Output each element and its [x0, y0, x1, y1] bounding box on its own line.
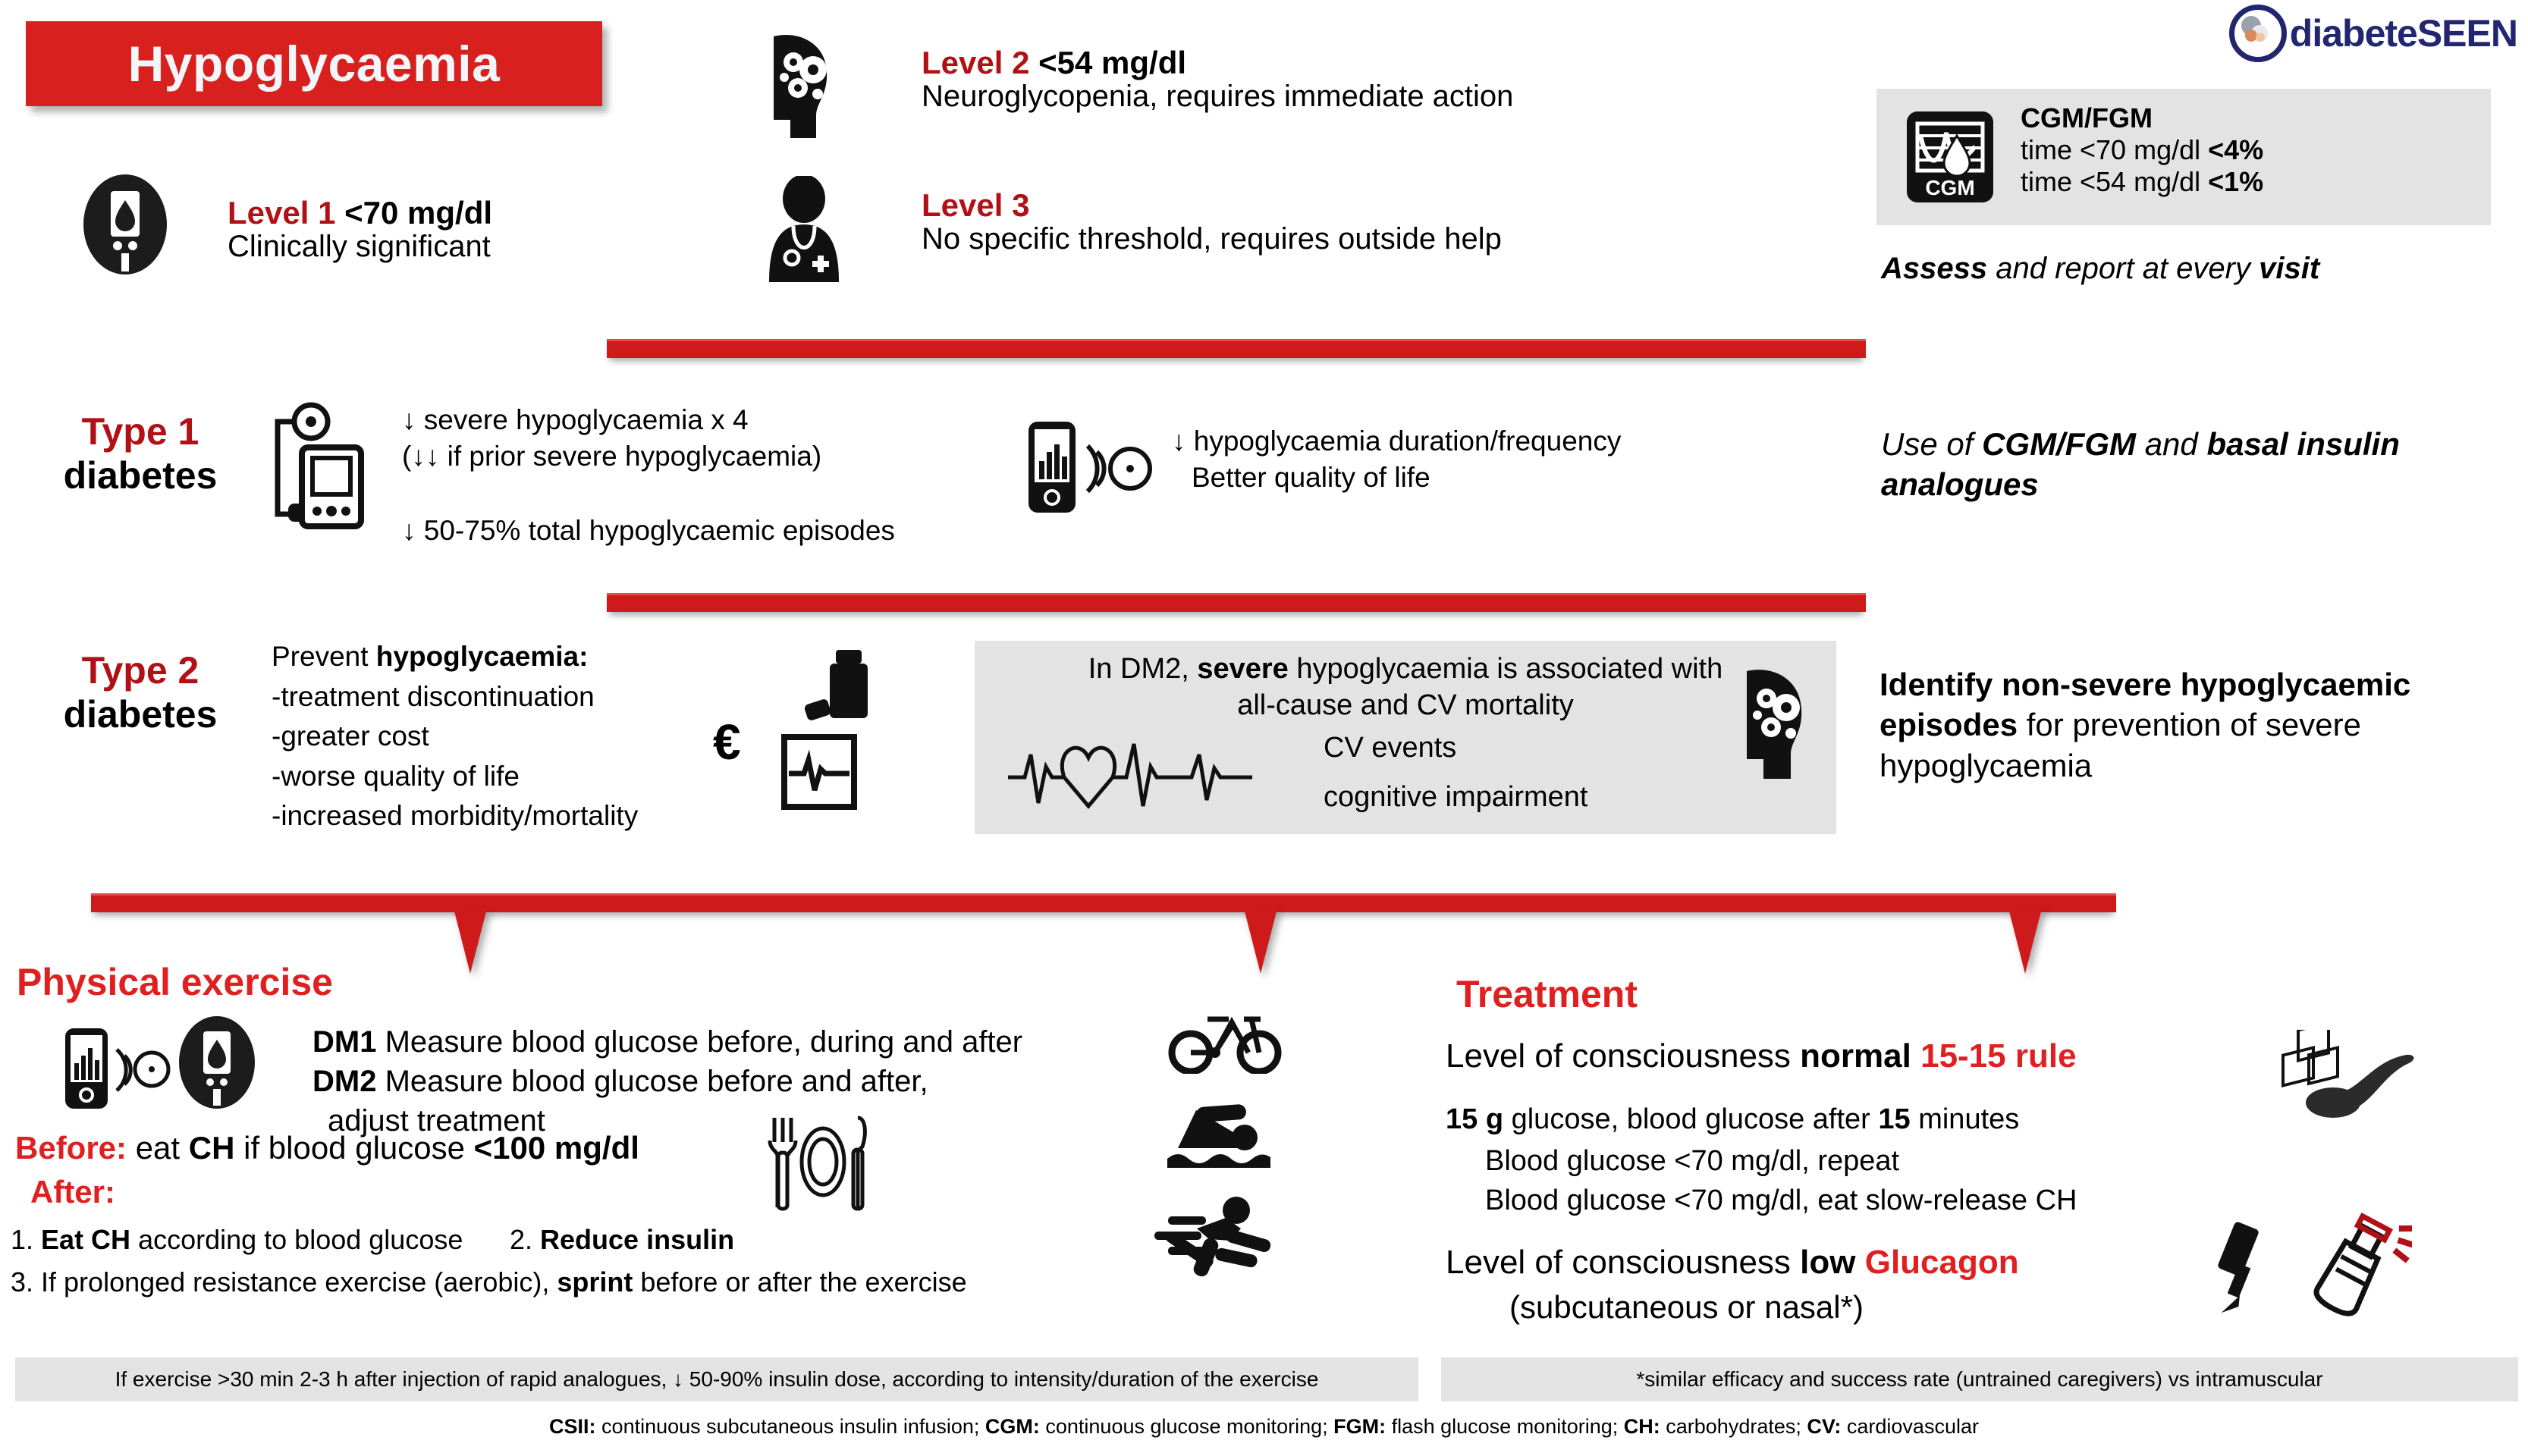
type-1-callout-bold-1: CGM/FGM [1982, 426, 2136, 462]
exercise-after-item-1-num: 1. [11, 1224, 41, 1255]
type-1-callout-mid: and [2136, 426, 2206, 462]
exercise-after-item-1-bold: Eat CH [41, 1224, 130, 1255]
diabeteseen-mark-icon [2229, 5, 2287, 62]
type-2-panel-line-1-post: hypoglycaemia is associated with [1289, 653, 1722, 685]
exercise-dm2-line: DM2 Measure blood glucose before and aft… [312, 1062, 1116, 1101]
infographic-page: diabeteSEEN Hypoglycaemia Level 1 <70 mg… [0, 0, 2528, 1456]
bicycle-icon [1168, 1009, 1282, 1074]
type-1-title: Type 1 diabetes [30, 409, 250, 497]
level-2-description: Neuroglycopenia, requires immediate acti… [922, 80, 1817, 114]
type-1-pump-line-1: ↓ severe hypoglycaemia x 4 [402, 402, 1085, 438]
level-3-description: No specific threshold, requires outside … [922, 222, 1817, 256]
exercise-after-item-2-num: 2. [510, 1224, 540, 1255]
abbr-csii-text: continuous subcutaneous insulin infusion… [596, 1415, 985, 1438]
cgm-line-1-text: time <70 mg/dl [2021, 134, 2208, 165]
type-1-cgm-line-2: Better quality of life [1172, 460, 1854, 496]
nasal-spray-icon [2298, 1204, 2412, 1318]
type-2-title-line-2: diabetes [30, 692, 250, 736]
runner-icon [1151, 1195, 1273, 1279]
exercise-after-item-2-bold: Reduce insulin [540, 1224, 734, 1255]
type-2-panel-text: In DM2, severe hypoglycaemia is associat… [993, 651, 1818, 724]
abbr-fgm-text: flash glucose monitoring; [1386, 1415, 1624, 1438]
type-2-panel-line-1: In DM2, severe hypoglycaemia is associat… [993, 651, 1818, 688]
abbreviations-line: CSII: continuous subcutaneous insulin in… [0, 1415, 2528, 1439]
type-1-pump-line-2: (↓↓ if prior severe hypoglycaemia) [402, 438, 1085, 475]
exercise-after-label: After: [30, 1174, 115, 1210]
level-2-block: Level 2 <54 mg/dl Neuroglycopenia, requi… [922, 45, 1817, 114]
abbr-ch: CH: [1624, 1415, 1660, 1438]
type-1-pump-line-3: ↓ 50-75% total hypoglycaemic episodes [402, 513, 1085, 549]
level-1-description: Clinically significant [228, 230, 698, 264]
divider-2 [607, 593, 1866, 612]
level-3-label: Level 3 [922, 187, 1029, 223]
exercise-dm2-text: Measure blood glucose before and after, [376, 1065, 928, 1098]
type-1-title-line-2: diabetes [30, 453, 250, 497]
type-2-callout: Identify non-severe hypoglycaemic episod… [1880, 664, 2528, 786]
level-1-label: Level 1 [228, 195, 335, 231]
exercise-after-item-3: 3. If prolonged resistance exercise (aer… [11, 1266, 967, 1298]
assess-note: Assess and report at every visit [1881, 252, 2319, 286]
exercise-cgm-reader-icon [61, 1025, 174, 1112]
level-2-icon [751, 30, 849, 144]
divider-3-pointer-treatment [2008, 908, 2042, 974]
type-2-title-line-1: Type 2 [30, 648, 250, 692]
exercise-dm1-text: Measure blood glucose before, during and… [376, 1025, 1022, 1059]
abbr-cv: CV: [1807, 1415, 1841, 1438]
cgm-icon: CGM [1905, 110, 1995, 204]
type-2-prevent-item-3: -worse quality of life [272, 757, 757, 797]
type-2-prevent-pre: Prevent [272, 641, 376, 672]
divider-3 [91, 893, 2116, 912]
type-2-prevent-item-2: -greater cost [272, 717, 757, 757]
exercise-after-item-3-bold: sprint [557, 1266, 633, 1298]
divider-3-pointer-middle [1244, 908, 1277, 974]
exercise-footnote: If exercise >30 min 2-3 h after injectio… [15, 1357, 1418, 1401]
level-1-block: Level 1 <70 mg/dl Clinically significant [228, 196, 698, 264]
brand-logo: diabeteSEEN [2229, 5, 2517, 62]
exercise-before-line: Before: eat CH if blood glucose <100 mg/… [15, 1130, 639, 1166]
treatment-normal-rule: 15-15 rule [1920, 1037, 2076, 1075]
ecg-monitor-icon [781, 734, 857, 810]
type-1-cgm-line-1: ↓ hypoglycaemia duration/frequency [1172, 423, 1854, 460]
insulin-pump-icon [265, 400, 372, 537]
brand-wordmark: diabeteSEEN [2290, 11, 2517, 55]
physical-exercise-heading: Physical exercise [17, 960, 333, 1004]
divider-1 [607, 339, 1866, 358]
cgm-reader-icon [1024, 419, 1160, 517]
heart-ecg-icon [1005, 724, 1255, 815]
treatment-low-red: Glucagon [1865, 1244, 2019, 1281]
exercise-dm2-bold: DM2 [312, 1065, 376, 1098]
cgm-line-1: time <70 mg/dl <4% [2021, 134, 2263, 166]
exercise-before-bold-2: <100 mg/dl [474, 1130, 639, 1166]
exercise-before-label: Before: [15, 1130, 127, 1166]
exercise-dm1-line: DM1 Measure blood glucose before, during… [312, 1022, 1116, 1062]
euro-icon: € [713, 713, 741, 770]
exercise-after-item-2: 2. Reduce insulin [510, 1224, 734, 1256]
treatment-rule-bold-2: 15 [1878, 1103, 1910, 1135]
type-2-prevent-item-4: -increased morbidity/mortality [272, 796, 757, 836]
treatment-low-bold: low [1800, 1244, 1855, 1281]
abbr-csii: CSII: [549, 1415, 596, 1438]
type-2-panel-line-1-pre: In DM2, [1088, 653, 1198, 685]
abbr-fgm: FGM: [1333, 1415, 1386, 1438]
swimmer-icon [1164, 1101, 1278, 1169]
level-1-icon [83, 174, 167, 275]
cgm-line-1-value: <4% [2208, 134, 2263, 165]
divider-3-pointer-exercise [454, 908, 487, 974]
cgm-heading: CGM/FGM [2021, 102, 2263, 134]
treatment-footnote-text: *similar efficacy and success rate (untr… [1636, 1367, 2322, 1392]
cgm-line-2: time <54 mg/dl <1% [2021, 166, 2263, 198]
treatment-rule-line-2: Blood glucose <70 mg/dl, repeat [1485, 1145, 1899, 1178]
exercise-after-item-3-num: 3. [11, 1266, 41, 1298]
sugar-spoon-icon [2275, 1030, 2420, 1118]
exercise-before-pre: eat [127, 1130, 189, 1166]
assess-note-mid: and report at every [1987, 252, 2259, 285]
treatment-normal-pre: Level of consciousness [1446, 1037, 1800, 1075]
type-1-callout-pre: Use of [1881, 426, 1982, 462]
exercise-dm1-bold: DM1 [312, 1025, 376, 1059]
treatment-footnote: *similar efficacy and success rate (untr… [1441, 1357, 2518, 1401]
abbr-cv-text: cardiovascular [1841, 1415, 1979, 1438]
treatment-rule-end: minutes [1911, 1103, 2020, 1135]
treatment-low-sub: (subcutaneous or nasal*) [1509, 1289, 1864, 1326]
cgm-fgm-box: CGM CGM/FGM time <70 mg/dl <4% time <54 … [1876, 89, 2491, 225]
treatment-low-pre: Level of consciousness [1446, 1244, 1800, 1281]
type-2-prevent-item-1: -treatment discontinuation [272, 677, 757, 717]
type-2-panel-line-4: cognitive impairment [1324, 781, 1587, 814]
exercise-before-mid: if blood glucose [234, 1130, 473, 1166]
level-3-block: Level 3 No specific threshold, requires … [922, 188, 1817, 256]
treatment-heading: Treatment [1456, 972, 1638, 1016]
abbr-cgm-text: continuous glucose monitoring; [1040, 1415, 1333, 1438]
level-1-threshold: <70 mg/dl [344, 195, 492, 231]
type-2-panel-line-2: all-cause and CV mortality [993, 688, 1818, 724]
level-3-icon [758, 176, 849, 282]
exercise-after-item-3-rest: If prolonged resistance exercise (aerobi… [41, 1266, 557, 1298]
type-1-pump-text: ↓ severe hypoglycaemia x 4 (↓↓ if prior … [402, 402, 1085, 549]
syringe-icon [2192, 1221, 2275, 1319]
exercise-before-bold-1: CH [189, 1130, 235, 1166]
page-title: Hypoglycaemia [26, 21, 602, 106]
type-1-title-line-1: Type 1 [30, 409, 250, 453]
type-2-prevent-bold: hypoglycaemia: [376, 641, 589, 672]
exercise-after-item-1-rest: according to blood glucose [130, 1224, 463, 1255]
type-1-cgm-text: ↓ hypoglycaemia duration/frequency Bette… [1172, 423, 1854, 496]
type-2-prevent-heading: Prevent hypoglycaemia: [272, 637, 757, 677]
type-2-panel-line-3: CV events [1324, 732, 1456, 764]
treatment-normal-bold: normal [1800, 1037, 1911, 1075]
exercise-dm-text: DM1 Measure blood glucose before, during… [312, 1022, 1116, 1141]
exercise-glucometer-icon [179, 1016, 255, 1109]
type-2-title: Type 2 diabetes [30, 648, 250, 736]
cgm-icon-label: CGM [1925, 176, 1974, 199]
exercise-footnote-text: If exercise >30 min 2-3 h after injectio… [115, 1367, 1319, 1392]
assess-note-bold-2: visit [2259, 252, 2319, 285]
type-2-prevent-list: Prevent hypoglycaemia: -treatment discon… [272, 637, 757, 836]
abbr-ch-text: carbohydrates; [1660, 1415, 1807, 1438]
cgm-line-2-text: time <54 mg/dl [2021, 166, 2208, 197]
treatment-rule-mid: glucose, blood glucose after [1503, 1103, 1878, 1135]
assess-note-bold-1: Assess [1881, 252, 1987, 285]
type-2-panel: In DM2, severe hypoglycaemia is associat… [975, 641, 1836, 834]
pill-bottle-icon [789, 648, 880, 732]
cutlery-icon [762, 1113, 873, 1212]
type-1-callout: Use of CGM/FGM and basal insulin analogu… [1881, 425, 2511, 504]
treatment-normal-line: Level of consciousness normal 15-15 rule [1446, 1037, 2077, 1075]
level-2-label: Level 2 [922, 45, 1029, 80]
treatment-rule-line-3: Blood glucose <70 mg/dl, eat slow-releas… [1485, 1185, 2077, 1217]
treatment-rule-line-1: 15 g glucose, blood glucose after 15 min… [1446, 1103, 2019, 1136]
treatment-low-line: Level of consciousness low Glucagon [1446, 1244, 2019, 1282]
treatment-rule-bold-1: 15 g [1446, 1103, 1503, 1135]
exercise-after-item-3-rest-2: before or after the exercise [633, 1266, 966, 1298]
type-2-panel-line-1-bold: severe [1197, 653, 1288, 685]
page-title-text: Hypoglycaemia [128, 35, 501, 93]
head-gears-icon [1722, 665, 1821, 785]
level-2-threshold: <54 mg/dl [1038, 45, 1186, 80]
cgm-line-2-value: <1% [2208, 166, 2263, 197]
exercise-after-item-1: 1. Eat CH according to blood glucose [11, 1224, 463, 1256]
abbr-cgm: CGM: [985, 1415, 1040, 1438]
